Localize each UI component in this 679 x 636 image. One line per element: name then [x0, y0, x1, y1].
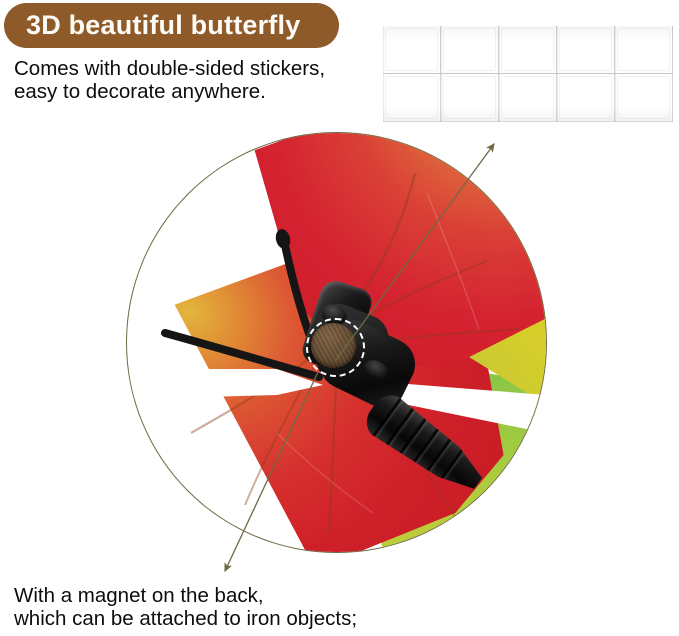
sticker-square — [615, 74, 673, 122]
sticker-square — [557, 74, 615, 122]
sticker-square — [557, 26, 615, 74]
sticker-square — [615, 26, 673, 74]
sticker-square — [499, 74, 557, 122]
title-banner: 3D beautiful butterfly — [4, 3, 339, 48]
butterfly-photo-circle — [127, 133, 546, 552]
magnet-highlight-ring — [306, 318, 365, 377]
caption-top: Comes with double-sided stickers, easy t… — [14, 57, 325, 103]
caption-bottom: With a magnet on the back, which can be … — [14, 584, 357, 630]
sticker-square — [441, 26, 499, 74]
title-text: 3D beautiful butterfly — [26, 12, 300, 39]
sticker-square — [383, 74, 441, 122]
sticker-square — [441, 74, 499, 122]
butterfly-image — [127, 133, 546, 552]
sticker-square — [383, 26, 441, 74]
sticker-sheet — [383, 26, 673, 122]
product-infographic: 3D beautiful butterfly Comes with double… — [0, 0, 679, 636]
sticker-square — [499, 26, 557, 74]
